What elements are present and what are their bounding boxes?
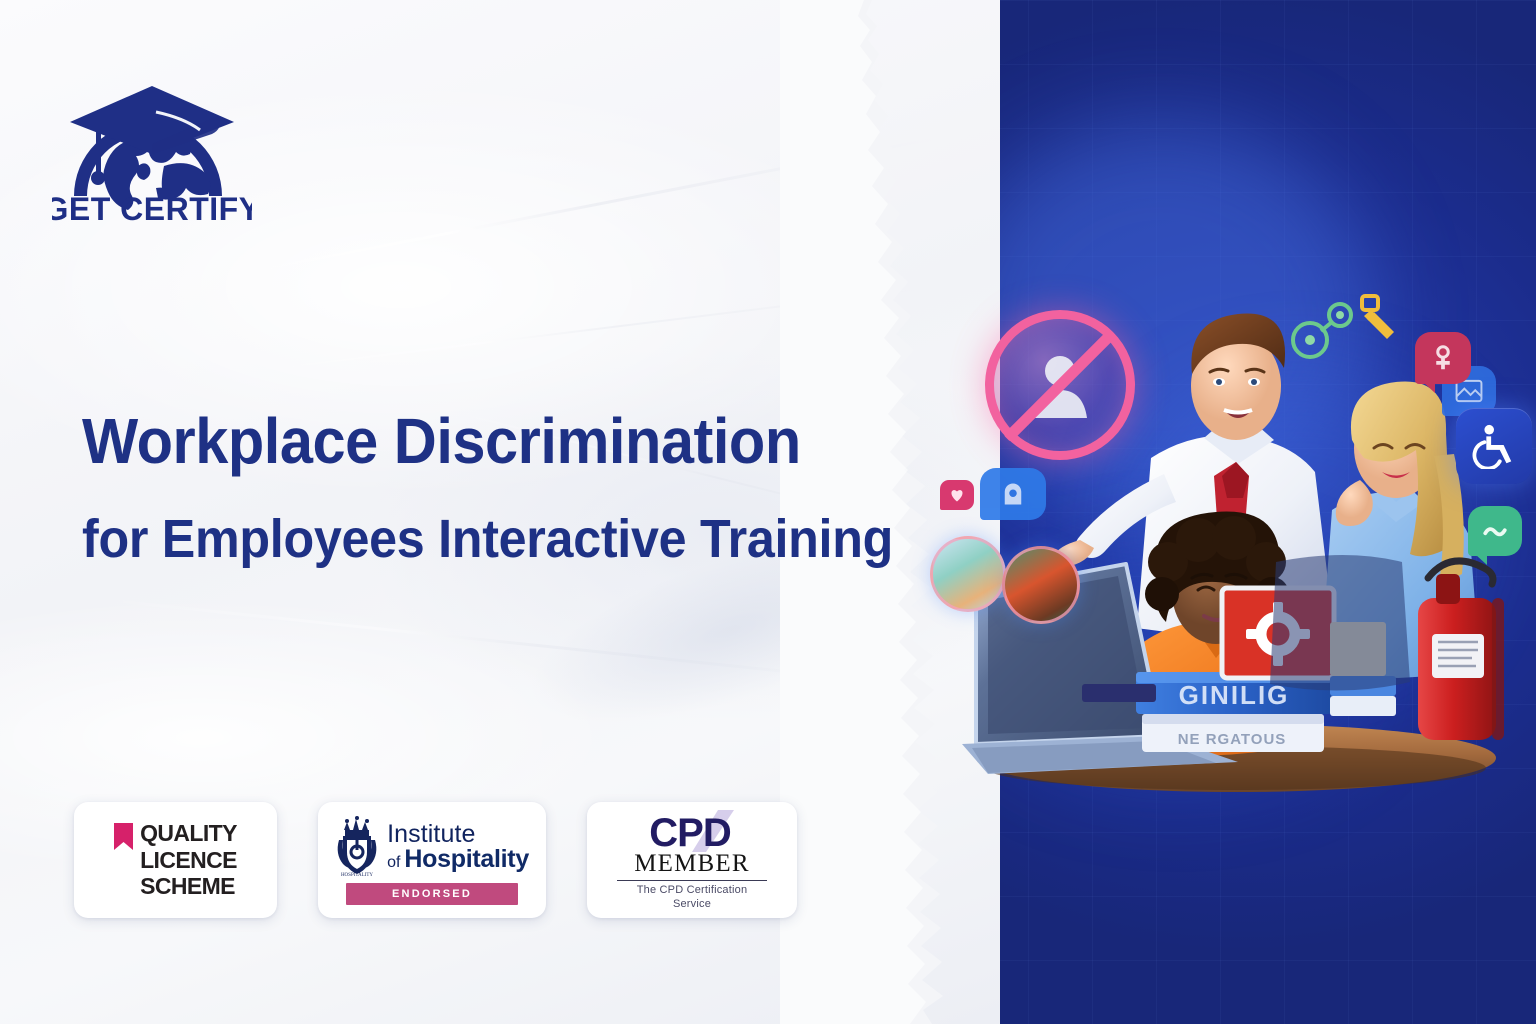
training-course-banner: GINILIG NE RGATOUS (0, 0, 1536, 1024)
badge-line-3: SCHEME (140, 873, 237, 900)
badge-institute-of-hospitality[interactable]: HOSPITALITY Institute of Hospitality END… (318, 802, 546, 918)
headline-primary: Workplace Discrimination (82, 408, 826, 476)
badge-line-1: Institute (387, 822, 529, 847)
badge-line-2: Hospitality (404, 847, 529, 872)
network-nodes-icon (1288, 298, 1358, 362)
bookmark-icon (114, 823, 133, 850)
wheelchair-accessibility-icon (1456, 408, 1532, 484)
headline-secondary: for Employees Interactive Training (82, 510, 826, 569)
badge-sub-line-2: Service (637, 898, 748, 912)
svg-text:NE RGATOUS: NE RGATOUS (1178, 731, 1287, 748)
heraldic-crest-icon: HOSPITALITY (335, 816, 379, 878)
cpd-logo-text: CPD (649, 811, 731, 852)
prohibition-slash (1003, 329, 1117, 443)
handshake-bubble-icon (1468, 506, 1522, 556)
avatar-bubble-icon (1002, 546, 1080, 624)
badge-endorsed-ribbon: ENDORSED (346, 883, 518, 905)
badge-cpd-member[interactable]: CPD MEMBER The CPD Certification Service (587, 802, 797, 918)
no-person-sign-icon (985, 310, 1135, 460)
brand-logo[interactable]: GET CERTIFY (52, 48, 252, 228)
badge-line-1: QUALITY (140, 820, 237, 847)
inclusion-bubble-icon (980, 468, 1046, 520)
badge-of-word: of (387, 855, 400, 871)
brand-logo-text: GET CERTIFY (52, 191, 252, 227)
svg-text:HOSPITALITY: HOSPITALITY (341, 873, 373, 878)
page-title: Workplace Discrimination for Employees I… (82, 408, 882, 569)
badge-line-1: MEMBER (634, 851, 750, 876)
divider (617, 880, 767, 881)
accreditation-badges: QUALITY LICENCE SCHEME (74, 802, 797, 918)
handshake-gold-icon (1356, 292, 1404, 340)
gender-equality-bubble-icon (1415, 332, 1471, 384)
badge-line-2: LICENCE (140, 847, 237, 874)
avatar-bubble-icon (930, 536, 1006, 612)
heart-bubble-icon (940, 480, 974, 510)
cpd-logo-icon: CPD (622, 808, 762, 852)
badge-sub-line-1: The CPD Certification (637, 884, 748, 898)
badge-quality-licence-scheme[interactable]: QUALITY LICENCE SCHEME (74, 802, 277, 918)
